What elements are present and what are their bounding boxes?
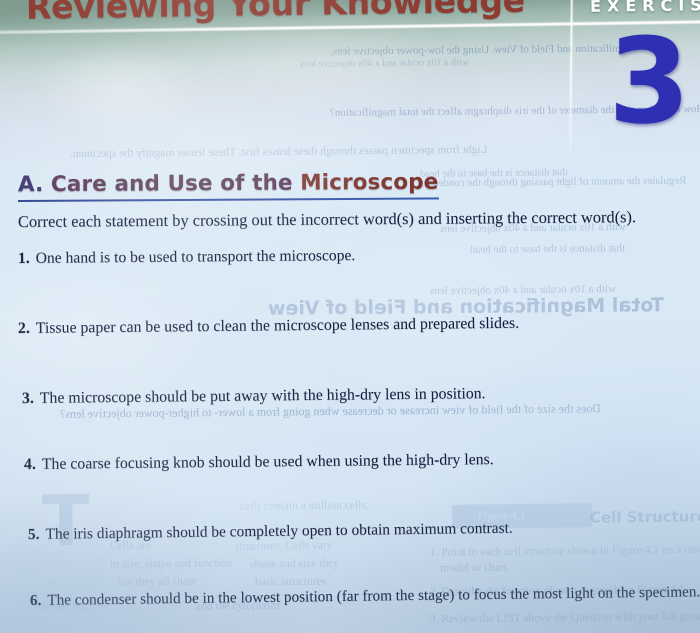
question-number-2: 2. bbox=[18, 320, 30, 337]
question-text-4: The coarse focusing knob should be used … bbox=[42, 451, 494, 473]
question-number-5: 5. bbox=[28, 526, 40, 543]
question-text-3: The microscope should be put away with t… bbox=[40, 385, 486, 407]
question-item-1: 1.One hand is to be used to transport th… bbox=[18, 247, 355, 268]
question-number-1: 1. bbox=[18, 250, 30, 267]
exercise-number: 3 bbox=[607, 22, 690, 141]
question-number-3: 3. bbox=[22, 390, 34, 407]
section-title-mid: Care and Use of the bbox=[43, 171, 300, 198]
question-number-6: 6. bbox=[30, 592, 42, 609]
question-text-2: Tissue paper can be used to clean the mi… bbox=[36, 315, 519, 337]
section-letter: A. bbox=[18, 172, 44, 197]
lab-manual-page-photo: Magnification and Field of View. Using t… bbox=[0, 0, 700, 633]
question-number-4: 4. bbox=[24, 456, 36, 473]
section-title-end: Microscope bbox=[300, 170, 438, 196]
question-text-1: One hand is to be used to transport the … bbox=[36, 247, 356, 267]
section-heading: A. Care and Use of the Microscope bbox=[18, 170, 439, 198]
